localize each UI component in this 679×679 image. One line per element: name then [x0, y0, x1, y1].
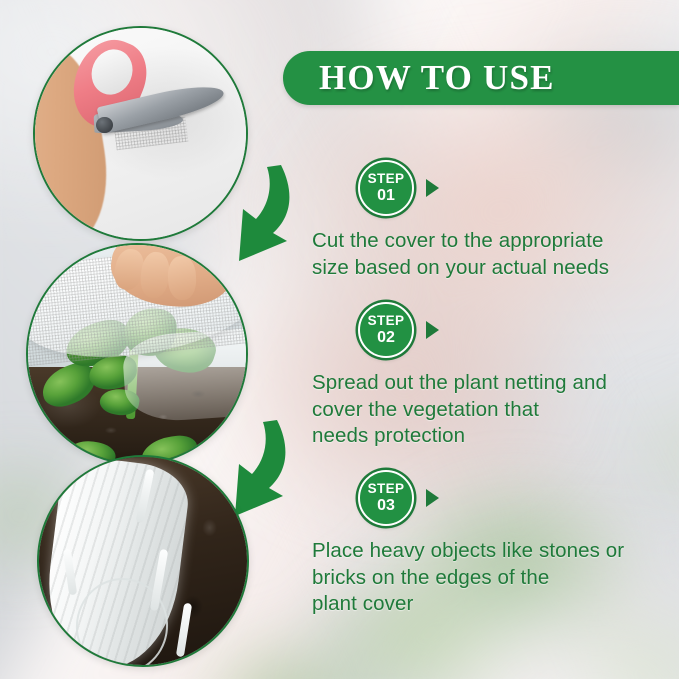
step-3-badge-row: STEP 03 [358, 470, 624, 526]
header-banner: HOW TO USE [283, 51, 679, 105]
triangle-right-icon [426, 489, 439, 507]
step-3-description: Place heavy objects like stones or brick… [312, 538, 624, 618]
step-2-badge-label: STEP [368, 314, 405, 328]
step-1-badge-label: STEP [368, 172, 405, 186]
finger [167, 255, 197, 300]
step-3-badge-label: STEP [368, 482, 405, 496]
photo-secured-tunnel [37, 455, 249, 667]
step-2-badge-row: STEP 02 [358, 302, 607, 358]
step-2-badge-number: 02 [377, 330, 395, 346]
step-3-badge-number: 03 [377, 498, 395, 514]
step-1-badge-number: 01 [377, 188, 395, 204]
step-2: STEP 02 Spread out the plant netting and… [358, 302, 607, 450]
triangle-right-icon [426, 321, 439, 339]
step-1-description: Cut the cover to the appropriate size ba… [312, 228, 609, 281]
triangle-right-icon [426, 179, 439, 197]
step-2-description: Spread out the plant netting and cover t… [312, 370, 607, 450]
step-1-badge: STEP 01 [358, 160, 414, 216]
step-3-badge: STEP 03 [358, 470, 414, 526]
page-title: HOW TO USE [319, 58, 555, 98]
step-1: STEP 01 Cut the cover to the appropriate… [358, 160, 609, 281]
step-1-badge-row: STEP 01 [358, 160, 609, 216]
step-3: STEP 03 Place heavy objects like stones … [358, 470, 624, 618]
step-2-badge: STEP 02 [358, 302, 414, 358]
